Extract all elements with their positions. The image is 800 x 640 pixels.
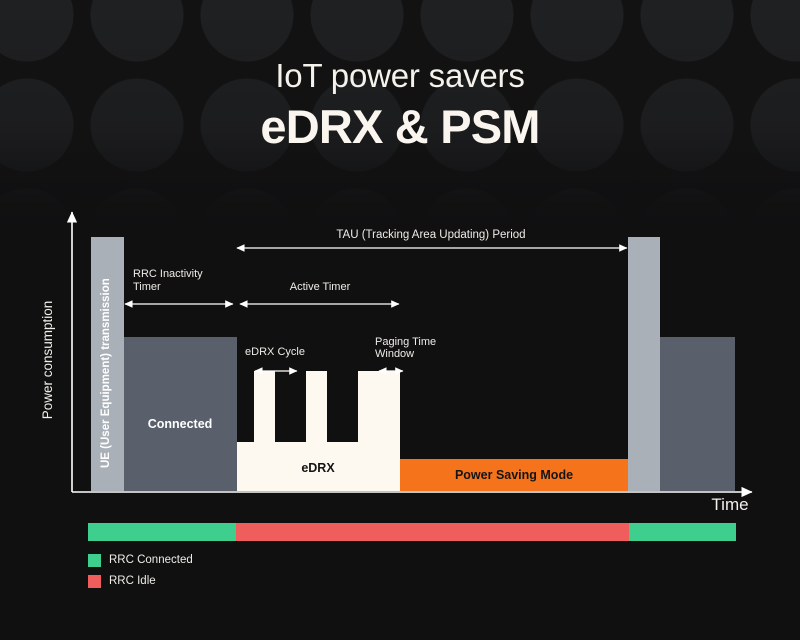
active-timer-label: Active Timer bbox=[290, 281, 351, 293]
tau-period-label: TAU (Tracking Area Updating) Period bbox=[336, 229, 525, 241]
rrc-state-bar bbox=[88, 523, 736, 541]
legend-item-rrc-connected: RRC Connected bbox=[88, 551, 748, 569]
edrx-cycle-label: eDRX Cycle bbox=[245, 346, 305, 358]
ue-transmission-label: UE (User Equipment) transmission bbox=[100, 278, 112, 468]
connected-bar-left bbox=[124, 337, 237, 491]
connected-label: Connected bbox=[148, 417, 213, 431]
ue-transmission-bar-right bbox=[628, 237, 660, 491]
poster-canvas: IoT power savers eDRX & PSM Power consum… bbox=[0, 0, 800, 640]
rrc-state-segment-idle bbox=[236, 523, 629, 541]
legend-area: RRC Connected RRC Idle bbox=[88, 523, 748, 593]
x-axis-label: Time bbox=[711, 495, 748, 514]
edrx-pulse-4 bbox=[379, 371, 400, 443]
legend-swatch-connected-icon bbox=[88, 554, 101, 567]
rrc-inactivity-label-line1: RRC Inactivity bbox=[133, 268, 203, 280]
power-saving-mode-label: Power Saving Mode bbox=[455, 468, 573, 482]
rrc-inactivity-label-line2: Timer bbox=[133, 281, 161, 293]
rrc-state-segment-connected-2 bbox=[629, 523, 736, 541]
edrx-label: eDRX bbox=[301, 461, 335, 475]
y-axis-label: Power consumption bbox=[40, 301, 55, 420]
paging-time-window-label-line1: Paging Time bbox=[375, 336, 436, 348]
legend-item-rrc-idle: RRC Idle bbox=[88, 572, 748, 590]
legend-label-idle: RRC Idle bbox=[109, 575, 156, 588]
legend-swatch-idle-icon bbox=[88, 575, 101, 588]
legend-keys: RRC Connected RRC Idle bbox=[88, 551, 748, 590]
connected-bar-right bbox=[660, 337, 735, 491]
paging-time-window-label-line2: Window bbox=[375, 348, 414, 360]
legend-label-connected: RRC Connected bbox=[109, 554, 193, 567]
rrc-state-segment-connected-1 bbox=[88, 523, 236, 541]
